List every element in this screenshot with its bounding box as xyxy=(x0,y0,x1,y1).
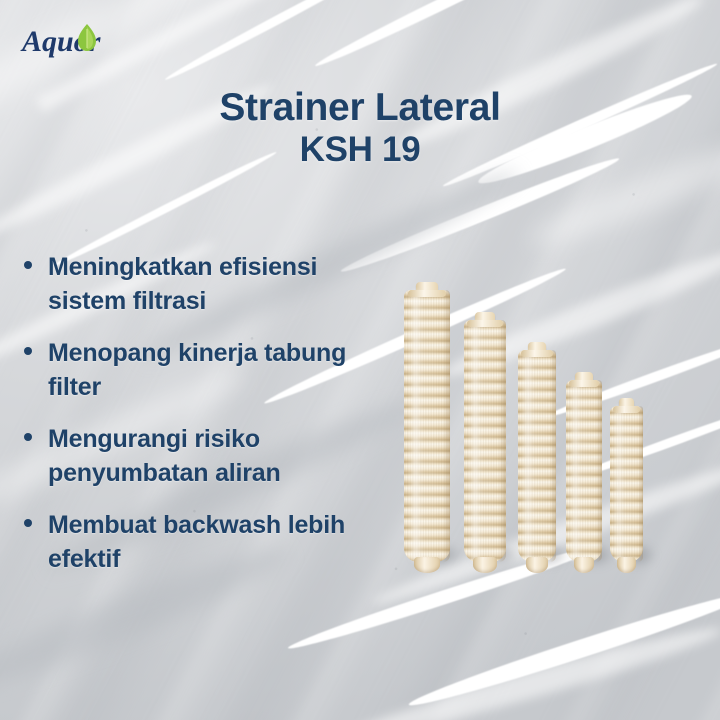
strainer-lateral-2 xyxy=(464,320,506,562)
product-collar xyxy=(521,350,553,357)
feature-list: Meningkatkan efisiensi sistem filtrasi M… xyxy=(18,250,390,576)
product-body xyxy=(610,406,643,562)
bullet-dot-icon xyxy=(24,433,32,441)
product-poster: Aquor Strainer Lateral KSH 19 Meningkatk… xyxy=(0,0,720,720)
product-body xyxy=(464,320,506,562)
paint-streak xyxy=(334,617,720,720)
list-item: Menopang kinerja tabung filter xyxy=(18,336,390,404)
product-collar xyxy=(467,320,502,327)
product-edge-shade xyxy=(596,380,602,562)
feature-text: Membuat backwash lebih efektif xyxy=(48,508,390,576)
paint-streak xyxy=(313,0,588,71)
strainer-lateral-1 xyxy=(404,290,450,562)
product-highlight xyxy=(410,290,422,562)
bullet-dot-icon xyxy=(24,519,32,527)
product-edge-shade xyxy=(499,320,506,562)
product-tip xyxy=(574,557,594,573)
strainer-lateral-4 xyxy=(566,380,602,562)
product-highlight xyxy=(523,350,533,562)
list-item: Mengurangi risiko penyumbatan aliran xyxy=(18,422,390,490)
product-edge-shade xyxy=(638,406,643,562)
product-highlight xyxy=(615,406,624,562)
product-body xyxy=(566,380,602,562)
product-tip xyxy=(526,557,547,573)
page-title: Strainer Lateral KSH 19 xyxy=(110,86,610,170)
paint-streak xyxy=(406,585,720,713)
feature-text: Mengurangi risiko penyumbatan aliran xyxy=(48,422,390,490)
product-tip xyxy=(473,557,497,573)
product-collar xyxy=(569,380,599,387)
product-body xyxy=(518,350,556,562)
brand-logo[interactable]: Aquor xyxy=(20,18,180,64)
product-edge-shade xyxy=(443,290,450,562)
product-body xyxy=(404,290,450,562)
product-image xyxy=(392,262,660,562)
product-collar xyxy=(613,406,641,413)
list-item: Meningkatkan efisiensi sistem filtrasi xyxy=(18,250,390,318)
title-line-1: Strainer Lateral xyxy=(110,86,610,130)
strainer-lateral-5 xyxy=(610,406,643,562)
feature-text: Menopang kinerja tabung filter xyxy=(48,336,390,404)
feature-text: Meningkatkan efisiensi sistem filtrasi xyxy=(48,250,390,318)
product-collar xyxy=(408,290,447,297)
title-line-2: KSH 19 xyxy=(110,130,610,170)
bullet-dot-icon xyxy=(24,261,32,269)
product-edge-shade xyxy=(550,350,556,562)
product-tip xyxy=(414,557,440,573)
product-highlight xyxy=(470,320,481,562)
strainer-lateral-3 xyxy=(518,350,556,562)
paint-streak xyxy=(163,0,397,84)
bullet-dot-icon xyxy=(24,347,32,355)
product-highlight xyxy=(571,380,580,562)
product-tip xyxy=(617,557,636,573)
list-item: Membuat backwash lebih efektif xyxy=(18,508,390,576)
